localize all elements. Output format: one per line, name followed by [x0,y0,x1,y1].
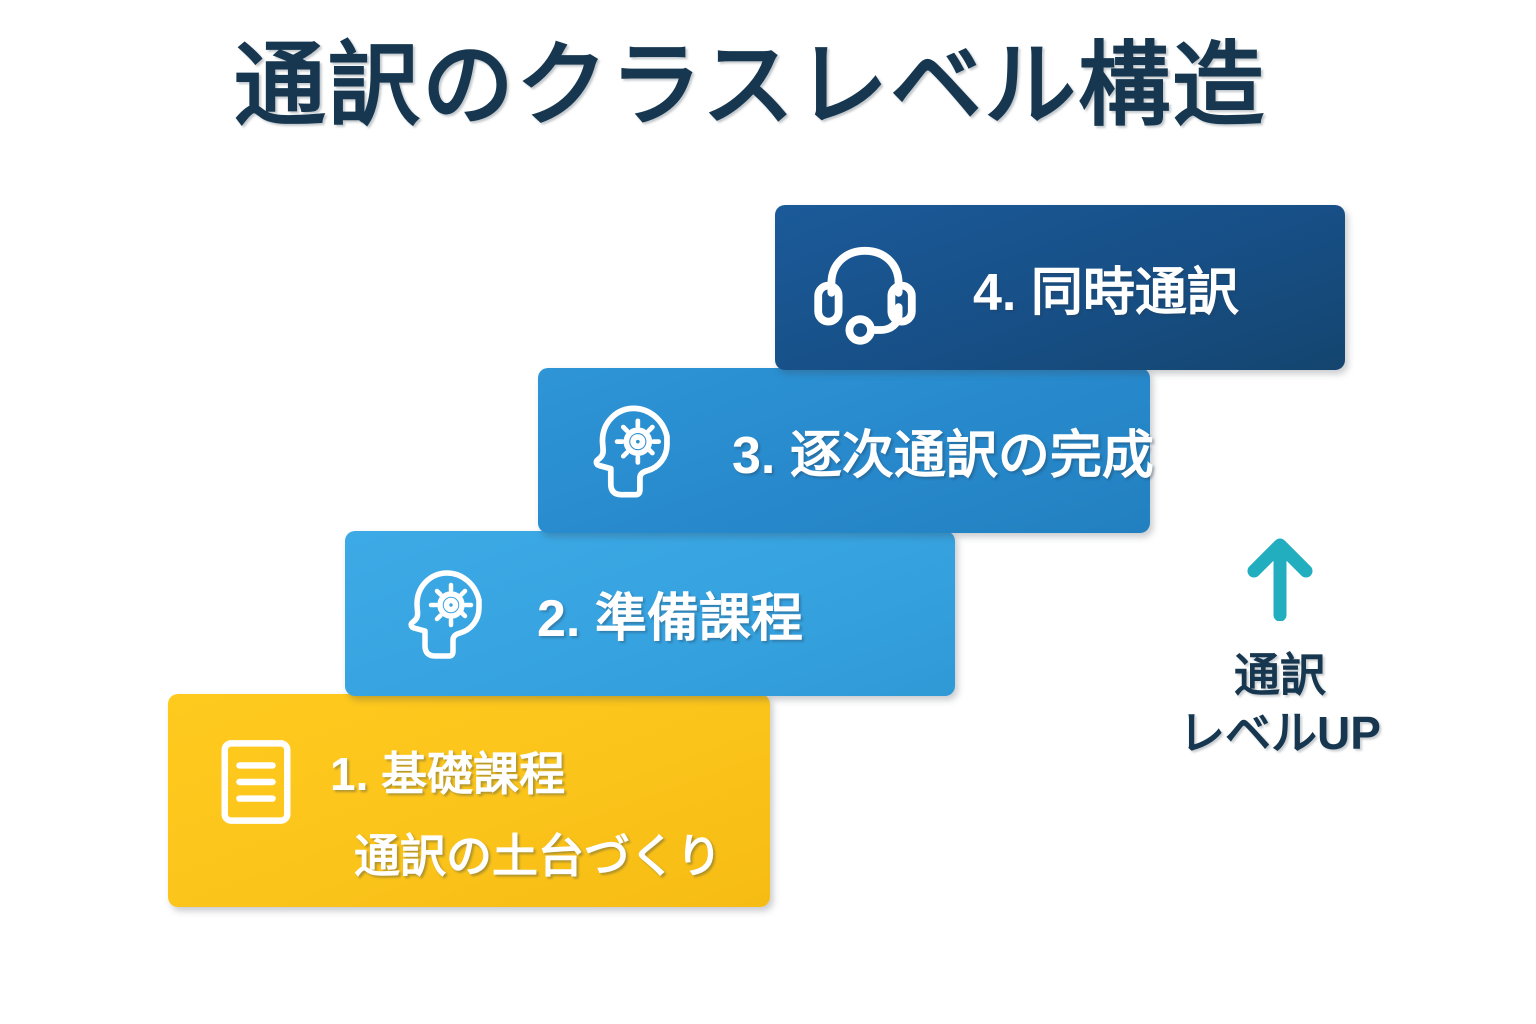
arrow-up-icon [1130,535,1430,621]
head-gear-icon [590,399,694,503]
step-label-level-4: 4. 同時通訳 [973,250,1239,325]
document-lines-icon [210,736,302,828]
levelup-line-1: 通訳 [1130,647,1430,705]
levelup-callout: 通訳 レベルUP [1130,535,1430,762]
step-card-level-4[interactable]: 4. 同時通訳 [775,205,1345,370]
levelup-line-2: レベルUP [1130,705,1430,763]
step-label-level-3: 3. 逐次通訳の完成 [732,413,1154,488]
step-label-level-1: 1. 基礎課程 [330,738,722,804]
head-gear-icon [405,564,505,664]
infographic-canvas: 通訳のクラスレベル構造 4. 同時通訳 [0,0,1536,1024]
headset-icon [805,228,925,348]
step-sublabel-level-1: 通訳の土台づくり [354,820,722,886]
step-label-group-level-1: 1. 基礎課程 通訳の土台づくり [330,738,722,886]
step-card-level-1[interactable]: 1. 基礎課程 通訳の土台づくり [168,694,770,907]
step-card-level-2[interactable]: 2. 準備課程 [345,531,955,696]
step-card-level-3[interactable]: 3. 逐次通訳の完成 [538,368,1150,533]
step-label-level-2: 2. 準備課程 [537,576,803,651]
page-title: 通訳のクラスレベル構造 [0,36,1500,137]
